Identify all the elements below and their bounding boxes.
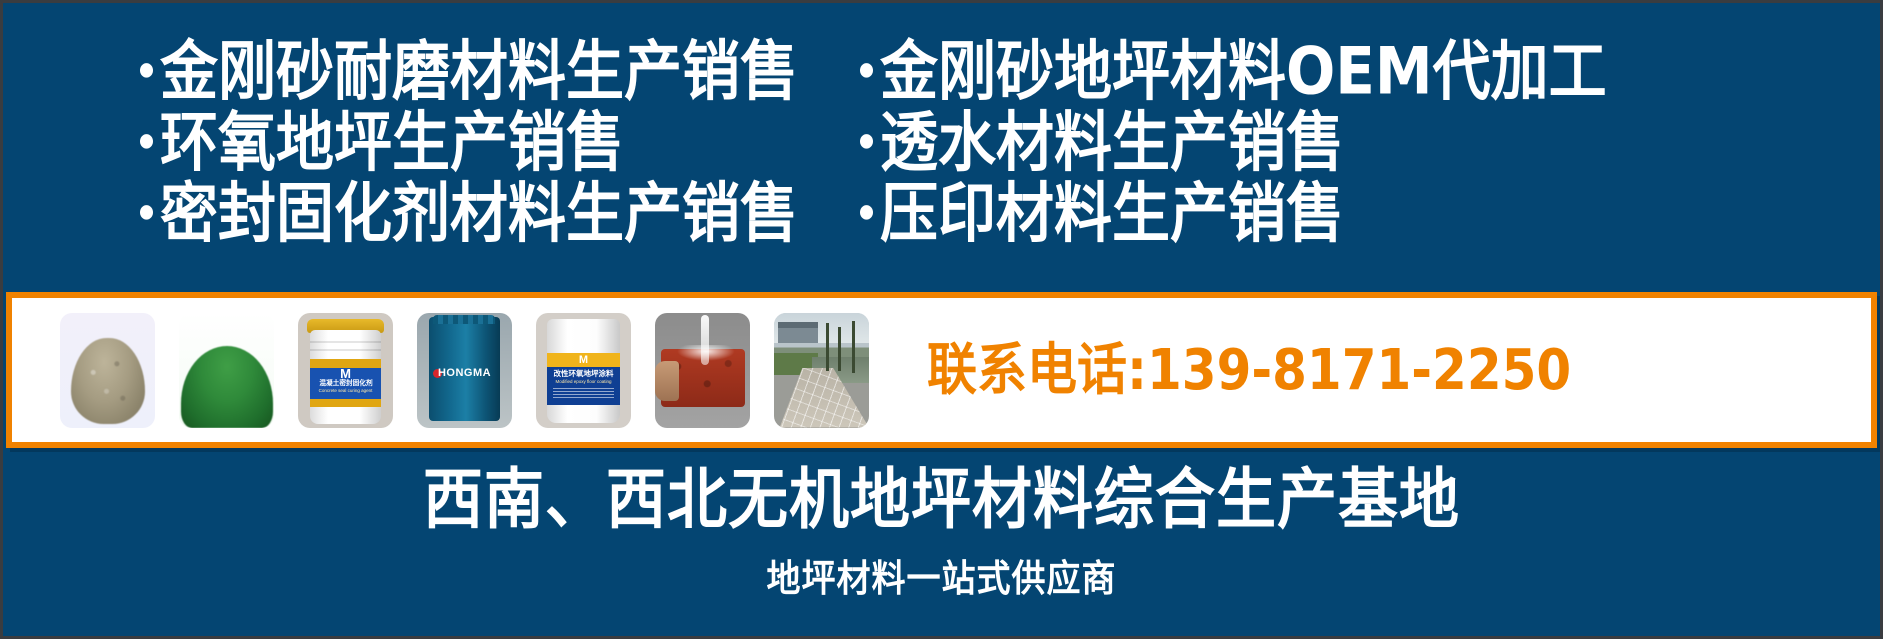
product-thumbnail-epoxy-bucket: M 改性环氧地坪涂料 Modified epoxy floor coating (536, 313, 631, 428)
contact-phone[interactable]: 联系电话:139-8171-2250 (927, 339, 1571, 402)
bullet-dot-icon (140, 134, 153, 149)
product-thumbnail-green-powder (179, 313, 274, 428)
product-thumbnail-curing-agent-bucket: M 混凝土密封固化剂 Concrete seal curing agent (298, 313, 393, 428)
tree-shape (838, 327, 841, 371)
service-item: 透水材料生产销售 (860, 105, 1880, 179)
service-item: 金刚砂耐磨材料生产销售 (140, 34, 860, 108)
building-shape (778, 327, 818, 343)
product-thumbnail-list: M 混凝土密封固化剂 Concrete seal curing agent HO… (60, 313, 869, 428)
bucket-label: M 改性环氧地坪涂料 Modified epoxy floor coating (547, 353, 620, 405)
bullet-dot-icon (860, 205, 873, 220)
bucket-label: M 混凝土密封固化剂 Concrete seal curing agent (310, 359, 381, 407)
service-item: 密封固化剂材料生产销售 (140, 176, 860, 250)
powder-heap-shape (181, 346, 273, 428)
powder-heap-shape (71, 338, 145, 424)
service-label: 金刚砂耐磨材料生产销售 (160, 34, 798, 108)
service-item: 压印材料生产销售 (860, 176, 1880, 250)
bucket-label-en: Concrete seal curing agent (319, 388, 373, 393)
tree-shape (852, 321, 855, 373)
product-thumbnail-stamped-path (774, 313, 869, 428)
bullet-dot-icon (860, 134, 873, 149)
services-section: 金刚砂耐磨材料生产销售 环氧地坪生产销售 密封固化剂材料生产销售 金刚砂地坪材料… (0, 34, 1883, 264)
bucket-ring-shape (310, 341, 381, 343)
sub-headline: 地坪材料一站式供应商 (767, 557, 1117, 600)
advertising-banner: 金刚砂耐磨材料生产销售 环氧地坪生产销售 密封固化剂材料生产销售 金刚砂地坪材料… (0, 0, 1883, 639)
bucket-label-cn: 混凝土密封固化剂 (319, 380, 372, 388)
bullet-dot-icon (140, 63, 153, 78)
bucket-label-cn: 改性环氧地坪涂料 (547, 369, 620, 378)
services-left-column: 金刚砂耐磨材料生产销售 环氧地坪生产销售 密封固化剂材料生产销售 (140, 34, 860, 264)
service-label: 密封固化剂材料生产销售 (160, 176, 798, 250)
product-thumbnail-hongma-drum: HONGMA (417, 313, 512, 428)
bullet-dot-icon (860, 63, 873, 78)
bucket-label-fineprint (553, 388, 614, 400)
service-label: 压印材料生产销售 (880, 176, 1344, 250)
footer-section: 西南、西北无机地坪材料综合生产基地 地坪材料一站式供应商 (0, 455, 1883, 639)
product-thumbnail-emery-powder (60, 313, 155, 428)
product-strip: M 混凝土密封固化剂 Concrete seal curing agent HO… (6, 292, 1877, 448)
services-right-column: 金刚砂地坪材料OEM代加工 透水材料生产销售 压印材料生产销售 (860, 34, 1880, 264)
brand-logo-m: M (340, 367, 351, 380)
bucket-label-en: Modified epoxy floor coating (547, 379, 620, 385)
drum-brand-label: HONGMA (417, 367, 512, 379)
water-splash-shape (677, 345, 735, 361)
service-label: 环氧地坪生产销售 (160, 105, 624, 179)
main-headline: 西南、西北无机地坪材料综合生产基地 (423, 462, 1460, 539)
service-item: 金刚砂地坪材料OEM代加工 (860, 34, 1880, 108)
service-label: 金刚砂地坪材料OEM代加工 (880, 34, 1607, 108)
service-item: 环氧地坪生产销售 (140, 105, 860, 179)
hand-shape (655, 361, 679, 401)
brand-logo-m: M (547, 355, 620, 366)
bucket-ring-shape (310, 349, 381, 351)
drum-cap-shape (433, 315, 495, 324)
product-thumbnail-permeable-block (655, 313, 750, 428)
bullet-dot-icon (140, 205, 153, 220)
service-label: 透水材料生产销售 (880, 105, 1344, 179)
tree-shape (826, 323, 829, 371)
